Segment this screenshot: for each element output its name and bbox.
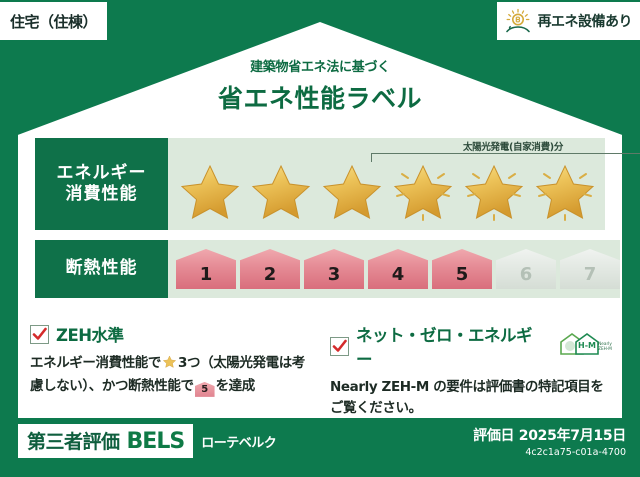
check-mark-icon xyxy=(30,325,49,344)
label-subtitle: 建築物省エネ法に基づく xyxy=(0,56,640,75)
insulation-grade-badge: 4 xyxy=(368,249,428,289)
energy-star-rating xyxy=(168,160,599,222)
star-item xyxy=(247,160,315,222)
insulation-grade-badge: 3 xyxy=(304,249,364,289)
star-item-solar xyxy=(531,160,599,222)
criteria-zeh-header: ZEH水準 xyxy=(30,322,312,346)
insulation-grade-badge: 6 xyxy=(496,249,556,289)
energy-performance-value-box: 太陽光発電(自家消費)分 xyxy=(168,138,605,230)
bels-badge: 第三者評価 BELS xyxy=(18,424,193,458)
renewable-equipment-chip: 再エネ設備あり xyxy=(497,2,640,40)
insulation-label-line1: 断熱性能 xyxy=(66,258,138,279)
insulation-grade-badge: 2 xyxy=(240,249,300,289)
insulation-grade-badge: 5 xyxy=(432,249,492,289)
criteria-section: ZEH水準 エネルギー消費性能で 3つ（太陽光発電は考慮しない）、かつ断熱性能で… xyxy=(30,322,612,419)
building-type-chip: 住宅（住棟） xyxy=(0,2,107,40)
footer-right: 評価日 2025年7月15日 4c2c1a75-c01a-4700 xyxy=(473,425,626,458)
building-type-text: 住宅（住棟） xyxy=(10,11,97,32)
check-mark-icon xyxy=(330,337,349,356)
footer-left: 第三者評価 BELS ローテベルク xyxy=(18,424,276,458)
insulation-grade-badge: 1 xyxy=(176,249,236,289)
insulation-grade-inline-badge: 5 xyxy=(195,382,215,397)
insulation-performance-value-box: 1 2 3 4 5 6 7 xyxy=(168,240,620,298)
svg-text:ZEH-M: ZEH-M xyxy=(598,346,612,351)
builder-name: ローテベルク xyxy=(201,432,276,451)
star-icon xyxy=(162,354,177,376)
star-item xyxy=(176,160,244,222)
bels-en-text: BELS xyxy=(127,429,185,454)
criteria-zeh-title: ZEH水準 xyxy=(56,322,124,346)
label-title-block: 建築物省エネ法に基づく 省エネ性能ラベル xyxy=(0,56,640,115)
criteria-zeh-text-3: を達成 xyxy=(216,378,255,394)
sun-solar-icon xyxy=(503,8,533,34)
star-item-solar xyxy=(460,160,528,222)
solar-generation-note: 太陽光発電(自家消費)分 xyxy=(368,139,640,153)
criteria-zeh-text-1: エネルギー消費性能で xyxy=(30,355,161,371)
star-item xyxy=(318,160,386,222)
label-main-title: 省エネ性能ラベル xyxy=(0,79,640,115)
insulation-performance-label-box: 断熱性能 xyxy=(35,240,168,298)
energy-performance-label-box: エネルギー 消費性能 xyxy=(35,138,168,230)
star-item-solar xyxy=(389,160,457,222)
criteria-net-zero-title: ネット・ゼロ・エネルギー xyxy=(356,322,547,370)
criteria-zeh: ZEH水準 エネルギー消費性能で 3つ（太陽光発電は考慮しない）、かつ断熱性能で… xyxy=(30,322,312,419)
renewable-chip-text: 再エネ設備あり xyxy=(538,11,633,31)
energy-performance-label: 住宅（住棟） 再エネ設備あり 建築 xyxy=(0,0,640,477)
svg-text:H-M: H-M xyxy=(578,341,596,350)
evaluation-id: 4c2c1a75-c01a-4700 xyxy=(473,447,626,458)
energy-label-line2: 消費性能 xyxy=(66,184,138,205)
criteria-net-zero: ネット・ゼロ・エネルギー H-M Nearly ZEH-M Nearly ZEH… xyxy=(330,322,612,419)
bels-jp-text: 第三者評価 xyxy=(27,427,120,454)
insulation-grade-scale: 1 2 3 4 5 6 7 xyxy=(168,249,620,289)
insulation-grade-badge: 7 xyxy=(560,249,620,289)
zeh-m-house-logo: H-M Nearly ZEH-M xyxy=(558,331,612,361)
criteria-net-zero-header: ネット・ゼロ・エネルギー H-M Nearly ZEH-M xyxy=(330,322,612,370)
criteria-net-zero-body: Nearly ZEH-M の要件は評価書の特記項目をご覧ください。 xyxy=(330,377,612,419)
energy-performance-row: エネルギー 消費性能 太陽光発電(自家消費)分 xyxy=(35,138,605,230)
insulation-performance-row: 断熱性能 1 2 3 4 5 6 7 xyxy=(35,240,605,298)
evaluation-date: 評価日 2025年7月15日 xyxy=(473,425,626,445)
energy-label-line1: エネルギー xyxy=(57,163,147,184)
criteria-zeh-body: エネルギー消費性能で 3つ（太陽光発電は考慮しない）、かつ断熱性能で5を達成 xyxy=(30,353,312,397)
